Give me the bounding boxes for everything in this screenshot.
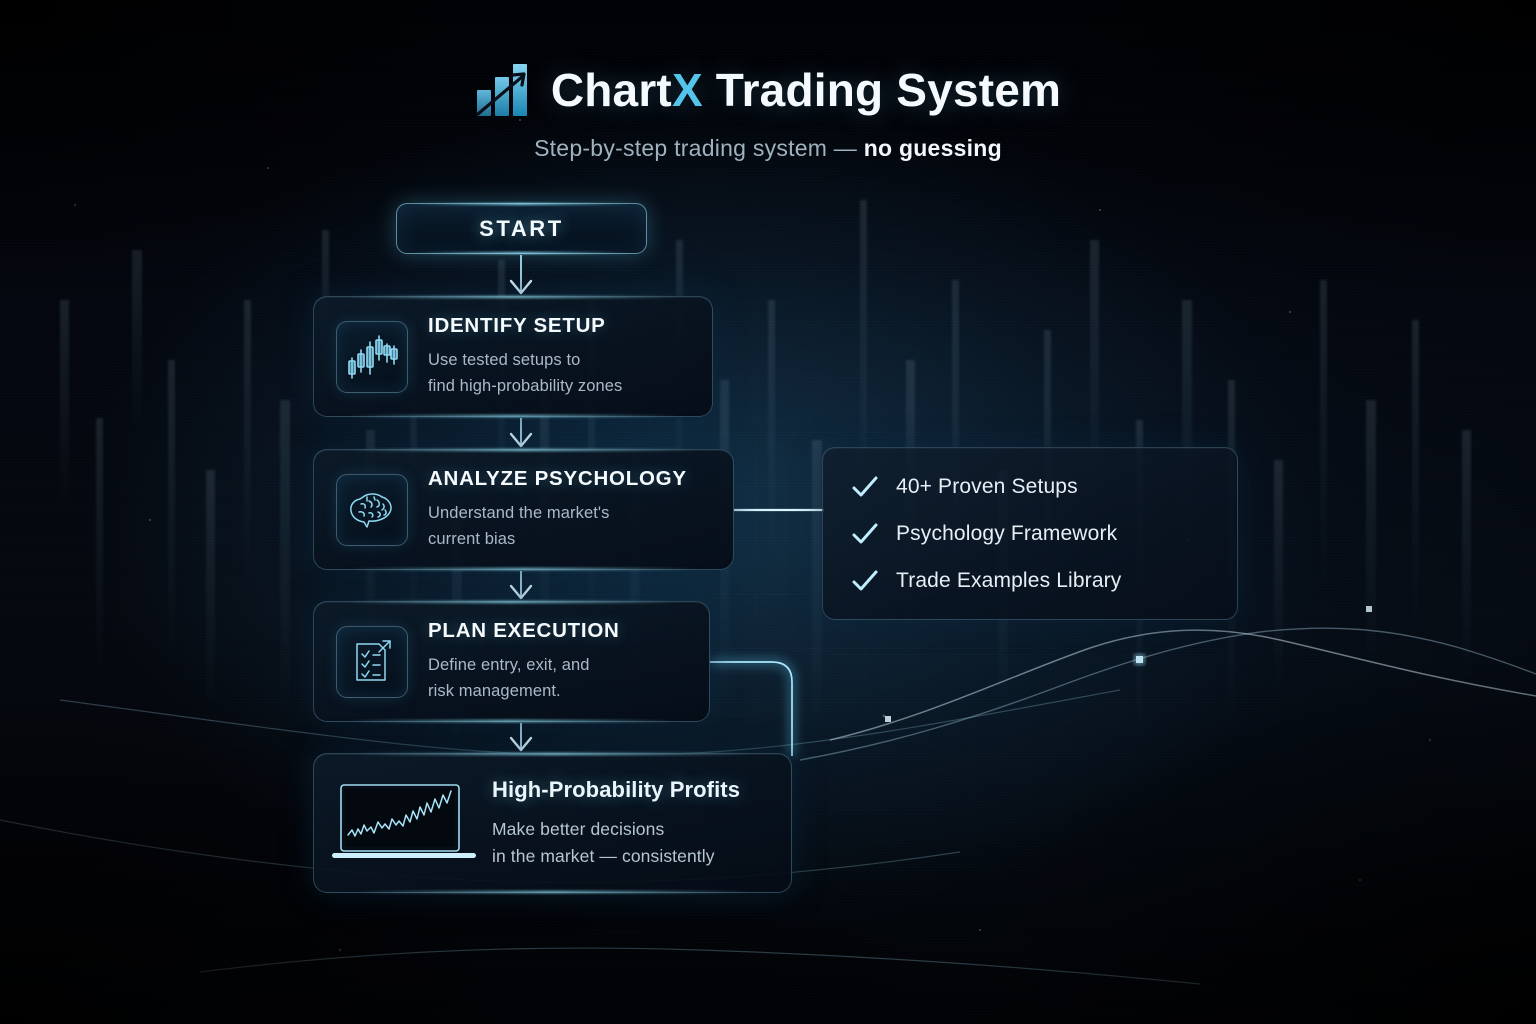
title-accent-x: X (672, 64, 703, 116)
feature-label: 40+ Proven Setups (896, 475, 1078, 499)
card-edge-glow-top (352, 753, 753, 755)
icon-frame (336, 626, 408, 698)
check-icon (851, 569, 879, 593)
check-icon (851, 522, 879, 546)
header: ChartX Trading System Step-by-step tradi… (0, 62, 1536, 162)
laptop-chart-icon (330, 781, 478, 865)
start-node[interactable]: START (396, 203, 647, 254)
bar-chart-arrow-icon (475, 62, 533, 118)
card-desc-line-1: Use tested setups to (428, 347, 622, 373)
start-label: START (479, 216, 564, 242)
card-edge-glow-bottom (352, 891, 753, 893)
outcome-title: High-Probability Profits (492, 777, 740, 803)
candlestick-chart-icon (346, 332, 398, 382)
title-prefix: Chart (551, 64, 672, 116)
icon-frame (336, 474, 408, 546)
feature-item[interactable]: Trade Examples Library (851, 569, 1237, 593)
card-desc-line-1: Understand the market's (428, 500, 687, 526)
feature-item[interactable]: 40+ Proven Setups (851, 475, 1237, 499)
title-suffix: Trading System (703, 64, 1061, 116)
outcome-card-high-probability-profits[interactable]: High-Probability Profits Make better dec… (313, 753, 792, 893)
infographic-canvas: ChartX Trading System Step-by-step tradi… (0, 0, 1536, 1024)
card-title: IDENTIFY SETUP (428, 314, 622, 338)
check-icon (851, 475, 879, 499)
card-title: ANALYZE PSYCHOLOGY (428, 467, 687, 491)
card-desc-line-1: Define entry, exit, and (428, 652, 620, 678)
brain-icon (347, 488, 397, 532)
title-row: ChartX Trading System (0, 62, 1536, 118)
card-edge-glow-top (348, 449, 700, 451)
feature-item[interactable]: Psychology Framework (851, 522, 1237, 546)
card-text-block: PLAN EXECUTION Define entry, exit, and r… (428, 619, 620, 704)
card-text-block: High-Probability Profits Make better dec… (492, 777, 740, 869)
card-edge-glow-bottom (348, 568, 700, 570)
icon-frame (330, 781, 478, 865)
subtitle-plain: Step-by-step trading system — (534, 135, 864, 161)
card-text-block: ANALYZE PSYCHOLOGY Understand the market… (428, 467, 687, 552)
step-card-plan-execution[interactable]: PLAN EXECUTION Define entry, exit, and r… (313, 601, 710, 722)
card-edge-glow-bottom (346, 720, 678, 722)
card-edge-glow-top (346, 601, 678, 603)
feature-label: Trade Examples Library (896, 569, 1121, 593)
outcome-desc-line-2: in the market — consistently (492, 843, 740, 870)
feature-label: Psychology Framework (896, 522, 1117, 546)
step-card-identify-setup[interactable]: IDENTIFY SETUP Use tested setups to find… (313, 296, 713, 417)
subtitle-bold: no guessing (864, 135, 1002, 161)
checklist-clipboard-icon (349, 638, 395, 686)
card-edge-glow-bottom (346, 415, 680, 417)
page-title: ChartX Trading System (551, 63, 1061, 117)
card-desc-line-2: risk management. (428, 678, 620, 704)
features-panel: 40+ Proven Setups Psychology Framework T… (822, 447, 1238, 620)
icon-frame (336, 321, 408, 393)
outcome-desc-line-1: Make better decisions (492, 816, 740, 843)
card-desc-line-2: find high-probability zones (428, 373, 622, 399)
card-text-block: IDENTIFY SETUP Use tested setups to find… (428, 314, 622, 399)
card-desc-line-2: current bias (428, 526, 687, 552)
step-card-analyze-psychology[interactable]: ANALYZE PSYCHOLOGY Understand the market… (313, 449, 734, 570)
card-edge-glow-top (346, 296, 680, 298)
card-title: PLAN EXECUTION (428, 619, 620, 643)
page-subtitle: Step-by-step trading system — no guessin… (0, 135, 1536, 162)
